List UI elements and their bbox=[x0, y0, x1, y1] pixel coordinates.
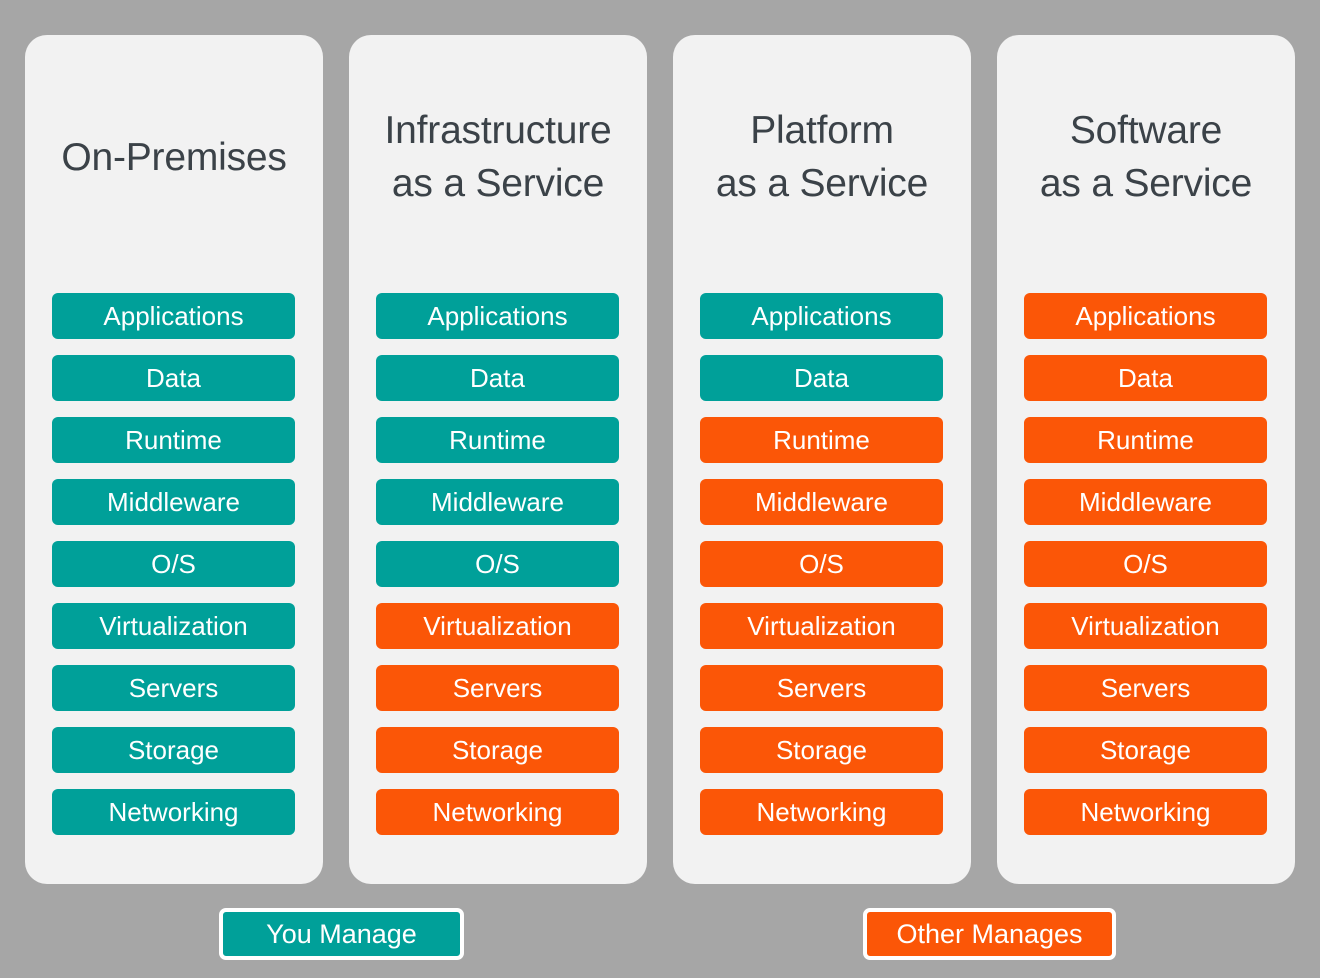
layer-bar-virtualization: Virtualization bbox=[52, 603, 295, 649]
layer-bar-label: O/S bbox=[1123, 551, 1168, 577]
column-title: On-Premises bbox=[25, 35, 323, 285]
column-title: Platformas a Service bbox=[673, 35, 971, 285]
legend-you-manage-label: You Manage bbox=[266, 921, 417, 948]
legend-other-manages-label: Other Manages bbox=[896, 921, 1082, 948]
layer-bar-middleware: Middleware bbox=[700, 479, 943, 525]
layer-bar-label: Runtime bbox=[449, 427, 546, 453]
layer-bar-label: Runtime bbox=[773, 427, 870, 453]
layer-bar-label: Servers bbox=[777, 675, 867, 701]
layer-bar-label: Networking bbox=[432, 799, 562, 825]
layer-bar-label: Virtualization bbox=[747, 613, 895, 639]
layer-bar-runtime: Runtime bbox=[700, 417, 943, 463]
layer-bar-runtime: Runtime bbox=[1024, 417, 1267, 463]
layer-bar-storage: Storage bbox=[700, 727, 943, 773]
layer-bar-label: Applications bbox=[1075, 303, 1215, 329]
layer-bar-label: Networking bbox=[1080, 799, 1210, 825]
service-column-on-premises: On-PremisesApplicationsDataRuntimeMiddle… bbox=[25, 35, 323, 884]
service-column-infrastructure-as-a-service: Infrastructureas a ServiceApplicationsDa… bbox=[349, 35, 647, 884]
layer-bar-runtime: Runtime bbox=[376, 417, 619, 463]
layer-bar-o-s: O/S bbox=[700, 541, 943, 587]
layer-bar-label: Servers bbox=[1101, 675, 1191, 701]
layer-bar-data: Data bbox=[700, 355, 943, 401]
layer-bar-applications: Applications bbox=[700, 293, 943, 339]
column-title-line: as a Service bbox=[1040, 158, 1252, 211]
layer-bar-data: Data bbox=[1024, 355, 1267, 401]
layer-bar-data: Data bbox=[376, 355, 619, 401]
layer-bar-virtualization: Virtualization bbox=[700, 603, 943, 649]
legend: You Manage Other Manages bbox=[0, 908, 1320, 970]
service-column-software-as-a-service: Softwareas a ServiceApplicationsDataRunt… bbox=[997, 35, 1295, 884]
layer-bar-label: Applications bbox=[751, 303, 891, 329]
legend-you-manage: You Manage bbox=[219, 908, 464, 960]
layer-bar-label: Storage bbox=[776, 737, 867, 763]
layer-bar-applications: Applications bbox=[52, 293, 295, 339]
layer-bar-servers: Servers bbox=[376, 665, 619, 711]
layer-bar-label: Storage bbox=[1100, 737, 1191, 763]
layer-bar-storage: Storage bbox=[1024, 727, 1267, 773]
layer-bar-o-s: O/S bbox=[52, 541, 295, 587]
layer-bar-label: Runtime bbox=[125, 427, 222, 453]
layer-bar-label: Applications bbox=[103, 303, 243, 329]
column-title: Infrastructureas a Service bbox=[349, 35, 647, 285]
layer-bar-middleware: Middleware bbox=[376, 479, 619, 525]
layer-stack: ApplicationsDataRuntimeMiddlewareO/SVirt… bbox=[700, 293, 943, 835]
layer-bar-label: O/S bbox=[475, 551, 520, 577]
layer-bar-servers: Servers bbox=[52, 665, 295, 711]
layer-bar-runtime: Runtime bbox=[52, 417, 295, 463]
layer-bar-label: Servers bbox=[453, 675, 543, 701]
layer-bar-o-s: O/S bbox=[376, 541, 619, 587]
layer-stack: ApplicationsDataRuntimeMiddlewareO/SVirt… bbox=[1024, 293, 1267, 835]
layer-bar-label: Storage bbox=[452, 737, 543, 763]
layer-bar-label: O/S bbox=[151, 551, 196, 577]
layer-bar-label: Applications bbox=[427, 303, 567, 329]
layer-bar-storage: Storage bbox=[376, 727, 619, 773]
layer-bar-label: Middleware bbox=[431, 489, 564, 515]
layer-bar-label: Storage bbox=[128, 737, 219, 763]
layer-bar-label: Data bbox=[146, 365, 201, 391]
layer-bar-label: Servers bbox=[129, 675, 219, 701]
layer-bar-networking: Networking bbox=[52, 789, 295, 835]
column-title-line: Software bbox=[1070, 105, 1222, 158]
layer-bar-virtualization: Virtualization bbox=[1024, 603, 1267, 649]
layer-bar-label: Networking bbox=[756, 799, 886, 825]
layer-bar-storage: Storage bbox=[52, 727, 295, 773]
layer-bar-networking: Networking bbox=[700, 789, 943, 835]
layer-bar-data: Data bbox=[52, 355, 295, 401]
layer-bar-label: Runtime bbox=[1097, 427, 1194, 453]
layer-bar-virtualization: Virtualization bbox=[376, 603, 619, 649]
layer-bar-label: Middleware bbox=[755, 489, 888, 515]
layer-bar-networking: Networking bbox=[376, 789, 619, 835]
layer-bar-applications: Applications bbox=[376, 293, 619, 339]
layer-bar-servers: Servers bbox=[1024, 665, 1267, 711]
layer-bar-applications: Applications bbox=[1024, 293, 1267, 339]
service-column-platform-as-a-service: Platformas a ServiceApplicationsDataRunt… bbox=[673, 35, 971, 884]
layer-bar-middleware: Middleware bbox=[52, 479, 295, 525]
layer-bar-middleware: Middleware bbox=[1024, 479, 1267, 525]
column-title-line: as a Service bbox=[716, 158, 928, 211]
layer-bar-label: Middleware bbox=[1079, 489, 1212, 515]
layer-bar-label: Virtualization bbox=[1071, 613, 1219, 639]
column-title-line: as a Service bbox=[392, 158, 604, 211]
column-title-line: Platform bbox=[750, 105, 894, 158]
layer-bar-o-s: O/S bbox=[1024, 541, 1267, 587]
layer-bar-label: Data bbox=[470, 365, 525, 391]
column-title-line: Infrastructure bbox=[385, 105, 612, 158]
layer-bar-label: O/S bbox=[799, 551, 844, 577]
service-model-columns: On-PremisesApplicationsDataRuntimeMiddle… bbox=[0, 0, 1320, 890]
layer-bar-label: Data bbox=[1118, 365, 1173, 391]
layer-bar-label: Middleware bbox=[107, 489, 240, 515]
layer-bar-servers: Servers bbox=[700, 665, 943, 711]
column-title-line: On-Premises bbox=[61, 132, 286, 185]
layer-stack: ApplicationsDataRuntimeMiddlewareO/SVirt… bbox=[376, 293, 619, 835]
layer-bar-label: Data bbox=[794, 365, 849, 391]
layer-bar-label: Networking bbox=[108, 799, 238, 825]
layer-bar-label: Virtualization bbox=[99, 613, 247, 639]
layer-bar-label: Virtualization bbox=[423, 613, 571, 639]
legend-other-manages: Other Manages bbox=[863, 908, 1116, 960]
layer-bar-networking: Networking bbox=[1024, 789, 1267, 835]
layer-stack: ApplicationsDataRuntimeMiddlewareO/SVirt… bbox=[52, 293, 295, 835]
column-title: Softwareas a Service bbox=[997, 35, 1295, 285]
